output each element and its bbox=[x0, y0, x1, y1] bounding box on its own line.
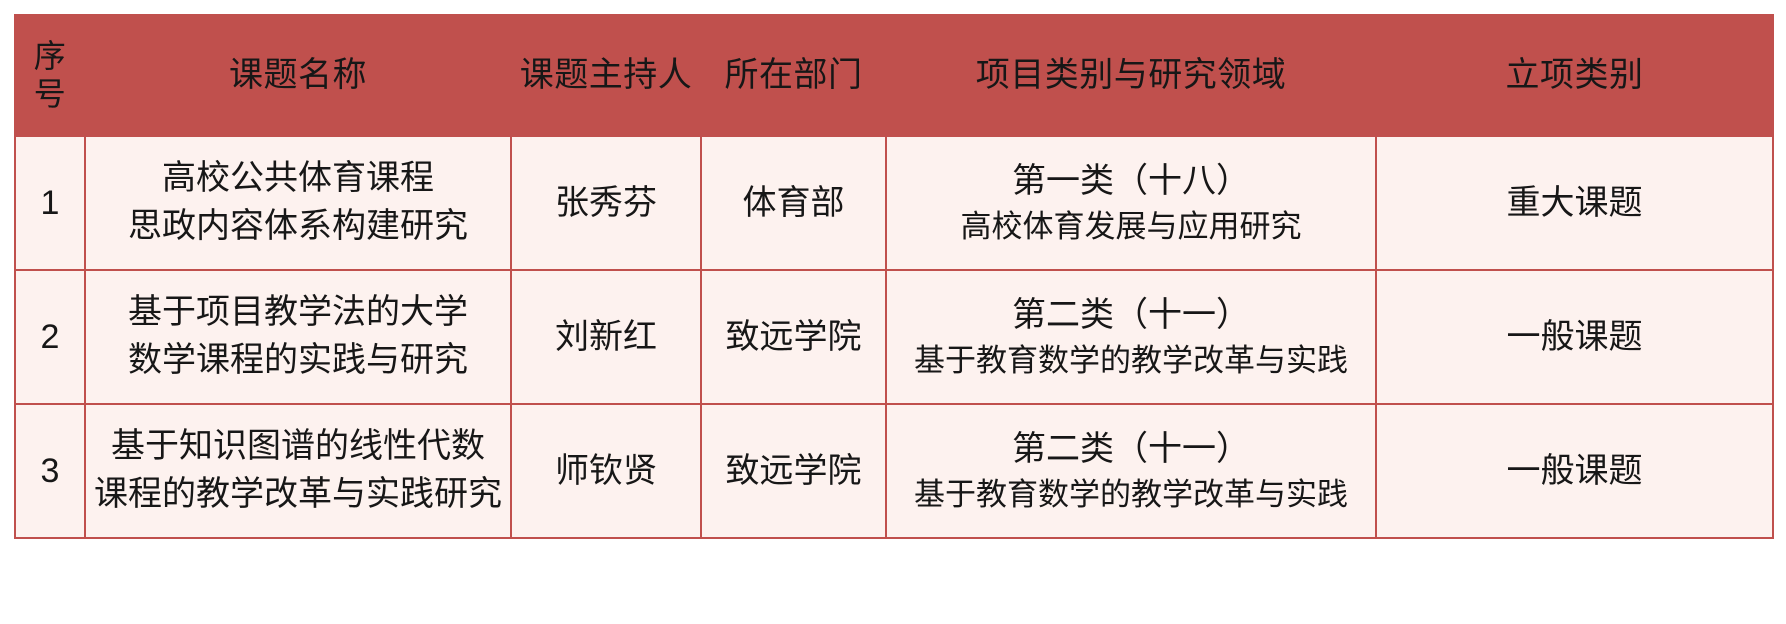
column-header-sequence-line1: 序 bbox=[20, 38, 80, 75]
cell-department: 致远学院 bbox=[701, 404, 886, 538]
cell-category-line2: 高校体育发展与应用研究 bbox=[891, 205, 1371, 248]
cell-project-type: 一般课题 bbox=[1376, 270, 1773, 404]
column-header-project-type: 立项类别 bbox=[1376, 15, 1773, 136]
table-container: 序 号 课题名称 课题主持人 所在部门 项目类别与研究领域 立项类别 1 高校公… bbox=[14, 14, 1772, 608]
cell-category: 第二类（十一） 基于教育数学的教学改革与实践 bbox=[886, 270, 1376, 404]
cell-title: 基于项目教学法的大学 数学课程的实践与研究 bbox=[85, 270, 511, 404]
table-row: 3 基于知识图谱的线性代数 课程的教学改革与实践研究 师钦贤 致远学院 第二类（… bbox=[15, 404, 1773, 538]
cell-leader: 张秀芬 bbox=[511, 136, 701, 270]
cell-category-line1: 第二类（十一） bbox=[891, 426, 1371, 474]
cell-category: 第一类（十八） 高校体育发展与应用研究 bbox=[886, 136, 1376, 270]
column-header-title: 课题名称 bbox=[85, 15, 511, 136]
cell-title-line1: 高校公共体育课程 bbox=[90, 155, 506, 203]
cell-title: 高校公共体育课程 思政内容体系构建研究 bbox=[85, 136, 511, 270]
cell-category-line1: 第一类（十八） bbox=[891, 158, 1371, 206]
cell-sequence: 2 bbox=[15, 270, 85, 404]
cell-title-line2: 数学课程的实践与研究 bbox=[90, 337, 506, 385]
column-header-category: 项目类别与研究领域 bbox=[886, 15, 1376, 136]
cell-category-line2: 基于教育数学的教学改革与实践 bbox=[891, 473, 1371, 516]
cell-leader: 师钦贤 bbox=[511, 404, 701, 538]
cell-department: 体育部 bbox=[701, 136, 886, 270]
table-row: 2 基于项目教学法的大学 数学课程的实践与研究 刘新红 致远学院 第二类（十一）… bbox=[15, 270, 1773, 404]
cell-title: 基于知识图谱的线性代数 课程的教学改革与实践研究 bbox=[85, 404, 511, 538]
column-header-sequence: 序 号 bbox=[15, 15, 85, 136]
column-header-leader: 课题主持人 bbox=[511, 15, 701, 136]
project-list-table: 序 号 课题名称 课题主持人 所在部门 项目类别与研究领域 立项类别 1 高校公… bbox=[14, 14, 1774, 539]
cell-project-type: 重大课题 bbox=[1376, 136, 1773, 270]
cell-project-type: 一般课题 bbox=[1376, 404, 1773, 538]
table-body: 1 高校公共体育课程 思政内容体系构建研究 张秀芬 体育部 第一类（十八） 高校… bbox=[15, 136, 1773, 538]
table-row: 1 高校公共体育课程 思政内容体系构建研究 张秀芬 体育部 第一类（十八） 高校… bbox=[15, 136, 1773, 270]
cell-title-line1: 基于项目教学法的大学 bbox=[90, 289, 506, 337]
cell-title-line2: 思政内容体系构建研究 bbox=[90, 203, 506, 251]
column-header-sequence-line2: 号 bbox=[20, 76, 80, 113]
cell-leader: 刘新红 bbox=[511, 270, 701, 404]
table-header: 序 号 课题名称 课题主持人 所在部门 项目类别与研究领域 立项类别 bbox=[15, 15, 1773, 136]
cell-sequence: 1 bbox=[15, 136, 85, 270]
column-header-department: 所在部门 bbox=[701, 15, 886, 136]
spreadsheet-canvas: 序 号 课题名称 课题主持人 所在部门 项目类别与研究领域 立项类别 1 高校公… bbox=[0, 0, 1786, 624]
cell-category: 第二类（十一） 基于教育数学的教学改革与实践 bbox=[886, 404, 1376, 538]
cell-department: 致远学院 bbox=[701, 270, 886, 404]
header-row: 序 号 课题名称 课题主持人 所在部门 项目类别与研究领域 立项类别 bbox=[15, 15, 1773, 136]
cell-category-line1: 第二类（十一） bbox=[891, 292, 1371, 340]
cell-title-line1: 基于知识图谱的线性代数 bbox=[90, 423, 506, 471]
cell-category-line2: 基于教育数学的教学改革与实践 bbox=[891, 339, 1371, 382]
cell-sequence: 3 bbox=[15, 404, 85, 538]
cell-title-line2: 课程的教学改革与实践研究 bbox=[90, 471, 506, 519]
